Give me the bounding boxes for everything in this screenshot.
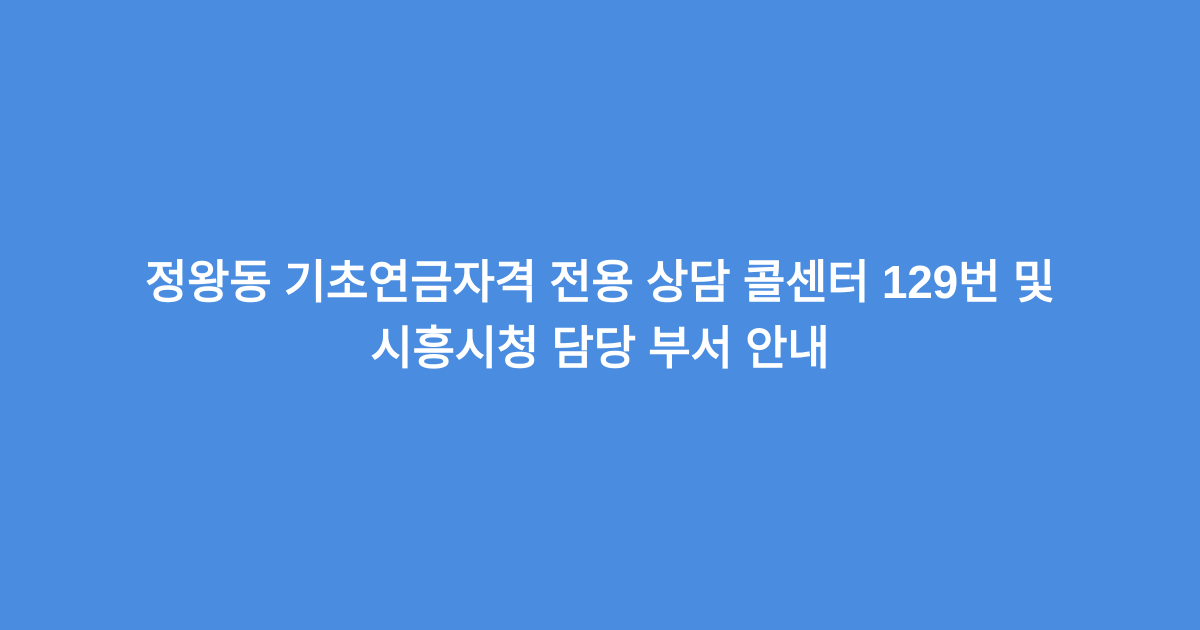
- og-card: 정왕동 기초연금자격 전용 상담 콜센터 129번 및 시흥시청 담당 부서 안…: [0, 0, 1200, 630]
- page-title: 정왕동 기초연금자격 전용 상담 콜센터 129번 및 시흥시청 담당 부서 안…: [0, 249, 1200, 381]
